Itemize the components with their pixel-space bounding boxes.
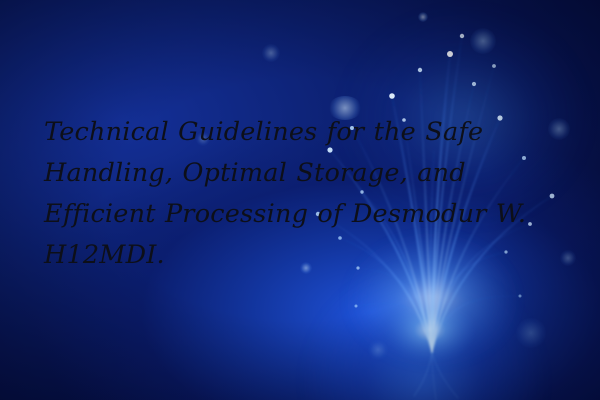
banner-image: Technical Guidelines for the Safe Handli…: [0, 0, 600, 400]
background-gradient: [0, 0, 600, 400]
